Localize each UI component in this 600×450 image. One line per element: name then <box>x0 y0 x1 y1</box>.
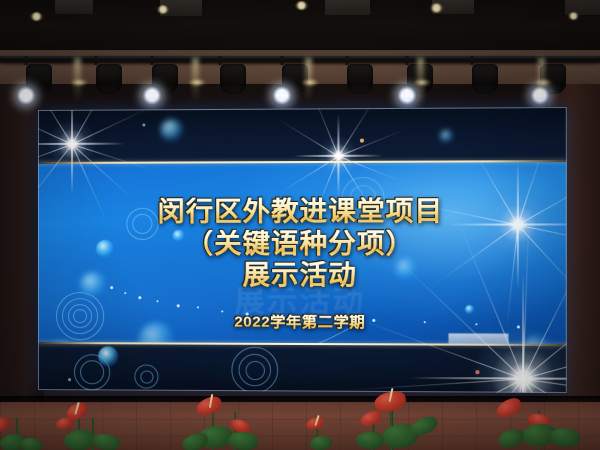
lamp-yoke <box>471 56 474 65</box>
ceiling-panel <box>325 0 370 15</box>
ring-motif <box>246 361 265 380</box>
lamp-yoke <box>95 56 98 65</box>
lamp-yoke <box>346 56 349 65</box>
ceiling-downlight <box>295 1 308 10</box>
lamp-yoke <box>406 56 409 65</box>
glow-orb <box>161 119 183 141</box>
plant-flower <box>0 415 12 434</box>
particle-dot <box>68 378 71 381</box>
led-display-screen: 展示活动 <box>38 107 567 393</box>
plant-leaf <box>408 414 440 438</box>
lamp-led-lens <box>17 86 36 105</box>
beam-pool <box>414 79 430 86</box>
ring-motif <box>140 371 153 384</box>
plant-leaf <box>310 436 332 450</box>
glow-orb <box>440 130 452 142</box>
accent-dot <box>360 139 364 143</box>
plant-leaf <box>355 430 385 450</box>
accent-dot <box>142 123 145 126</box>
lamp-yoke <box>219 56 222 65</box>
lamp-housing <box>220 64 246 94</box>
anthurium-plant <box>300 412 340 450</box>
plant-flower <box>494 395 524 420</box>
lamp-led-lens <box>143 86 162 105</box>
lamp-led-lens <box>398 86 417 105</box>
anthurium-plant <box>178 392 274 450</box>
beam-pool <box>302 79 318 86</box>
slide-title-line-2: （关键语种分项） <box>186 229 415 258</box>
ceiling-downlight <box>30 12 43 21</box>
plant-leaf <box>181 431 210 450</box>
anthurium-plant <box>492 390 588 450</box>
plant-flower <box>358 408 383 428</box>
beam-pool <box>189 79 205 86</box>
plant-leaf <box>90 431 121 450</box>
beam-pool <box>71 79 87 86</box>
lamp-housing <box>347 64 373 94</box>
plant-leaf <box>497 428 526 449</box>
slide-title-line-1: 闵行区外教进课堂项目 <box>157 197 443 226</box>
lamp-housing <box>96 64 122 94</box>
beam-pool <box>535 79 551 86</box>
ceiling-downlight <box>157 5 169 14</box>
anthurium-plant <box>0 404 54 450</box>
slide-semester-line: 2022学年第二学期 <box>234 314 365 330</box>
lamp-housing <box>472 64 498 94</box>
slide-text-block: 闵行区外教进课堂项目 （关键语种分项） 展示活动 2022学年第二学期 <box>38 162 567 344</box>
anthurium-plant <box>48 396 126 450</box>
ceiling-downlight <box>568 12 579 20</box>
lamp-yoke <box>151 56 154 65</box>
lighting-truss-bar <box>0 56 600 63</box>
slide-title-line-3: 展示活动 <box>243 261 357 290</box>
ceiling-downlight <box>430 3 443 13</box>
lamp-yoke <box>281 56 284 65</box>
plant-flower <box>55 417 73 430</box>
photo-scene: 展示活动 <box>0 0 600 450</box>
ceiling-panel <box>55 0 93 14</box>
glow-orb <box>98 346 118 366</box>
anthurium-plant <box>338 388 438 450</box>
lamp-yoke <box>25 56 28 65</box>
lamp-led-lens <box>273 86 292 105</box>
